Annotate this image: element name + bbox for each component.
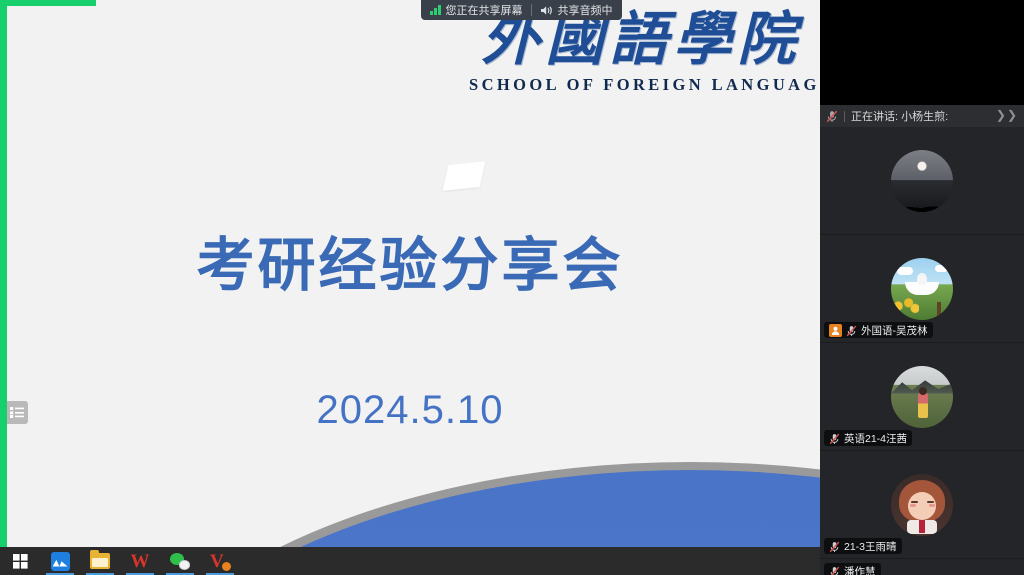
sharing-screen-label: 您正在共享屏幕 bbox=[446, 2, 523, 18]
slideshow-menu-button[interactable] bbox=[5, 401, 28, 424]
slide-title: 考研经验分享会 bbox=[0, 218, 820, 302]
mic-muted-icon bbox=[846, 324, 857, 336]
avatar bbox=[891, 366, 953, 428]
taskbar-item-v-player[interactable]: V bbox=[200, 547, 240, 575]
avatar bbox=[891, 258, 953, 320]
mic-muted-icon bbox=[829, 432, 840, 444]
taskbar-item-file-explorer[interactable] bbox=[80, 547, 120, 575]
mic-muted-icon bbox=[829, 565, 840, 575]
shared-screen-area: 外國語學院 SCHOOL OF FOREIGN LANGUAGES 考研经验分享… bbox=[0, 0, 820, 575]
sharing-screen-status: 您正在共享屏幕 bbox=[430, 2, 523, 18]
status-divider bbox=[531, 4, 532, 16]
participant-tile[interactable]: 21-3王雨晴 bbox=[820, 451, 1024, 559]
presentation-slide: 外國語學院 SCHOOL OF FOREIGN LANGUAGES 考研经验分享… bbox=[0, 0, 820, 547]
participant-tile[interactable] bbox=[820, 127, 1024, 235]
sharing-audio-status: 共享音频中 bbox=[540, 2, 613, 18]
participant-tile[interactable]: 英语21-4汪茜 bbox=[820, 343, 1024, 451]
sharing-audio-label: 共享音频中 bbox=[558, 2, 613, 18]
screen-root: 外國語學院 SCHOOL OF FOREIGN LANGUAGES 考研经验分享… bbox=[0, 0, 1024, 575]
slide-diamond-accent bbox=[443, 161, 486, 191]
school-logo: 外國語學院 SCHOOL OF FOREIGN LANGUAGES bbox=[469, 8, 814, 95]
active-speaker-header: 正在讲话: 小杨生煎: ❯❯ bbox=[820, 105, 1024, 127]
avatar bbox=[891, 150, 953, 212]
taskbar-item-wechat[interactable] bbox=[160, 547, 200, 575]
participant-name: 英语21-4汪茜 bbox=[844, 431, 907, 446]
participant-name: 21-3王雨晴 bbox=[844, 539, 897, 554]
taskbar-item-blue-app[interactable] bbox=[40, 547, 80, 575]
host-badge-icon bbox=[829, 324, 842, 337]
screen-share-status-bar[interactable]: 您正在共享屏幕 共享音频中 bbox=[421, 0, 622, 20]
windows-taskbar: W V bbox=[0, 547, 820, 575]
participant-namebar: 外国语-吴茂林 bbox=[824, 322, 933, 338]
windows-start-icon bbox=[13, 554, 28, 569]
blue-mountain-app-icon bbox=[51, 552, 70, 571]
taskbar-item-start[interactable] bbox=[0, 547, 40, 575]
share-frame-border-top bbox=[0, 0, 96, 6]
wps-office-icon: W bbox=[131, 552, 150, 571]
participant-video-panel: 正在讲话: 小杨生煎: ❯❯ bbox=[820, 105, 1024, 575]
chevron-collapse-icon[interactable]: ❯❯ bbox=[996, 109, 1017, 121]
header-divider bbox=[844, 111, 845, 122]
participant-name: 外国语-吴茂林 bbox=[861, 323, 928, 338]
participant-tile[interactable]: 潘作慧 bbox=[820, 559, 1024, 575]
list-menu-icon bbox=[10, 407, 24, 418]
active-speaker-label: 正在讲话: 小杨生煎: bbox=[851, 108, 948, 124]
signal-bars-icon bbox=[430, 5, 441, 15]
v-player-icon: V bbox=[210, 552, 230, 571]
mic-muted-icon bbox=[829, 540, 840, 552]
logo-english-text: SCHOOL OF FOREIGN LANGUAGES bbox=[469, 75, 814, 95]
taskbar-item-wps[interactable]: W bbox=[120, 547, 160, 575]
participant-tile[interactable]: 外国语-吴茂林 bbox=[820, 235, 1024, 343]
file-explorer-icon bbox=[90, 553, 110, 569]
avatar bbox=[891, 474, 953, 536]
participant-namebar: 英语21-4汪茜 bbox=[824, 430, 912, 446]
speaker-icon bbox=[540, 5, 553, 16]
mic-muted-icon bbox=[826, 110, 838, 123]
participant-namebar: 21-3王雨晴 bbox=[824, 538, 902, 554]
participant-namebar: 潘作慧 bbox=[824, 563, 881, 575]
wechat-icon bbox=[170, 553, 190, 570]
participant-name: 潘作慧 bbox=[844, 564, 876, 575]
slide-date: 2024.5.10 bbox=[0, 388, 820, 433]
